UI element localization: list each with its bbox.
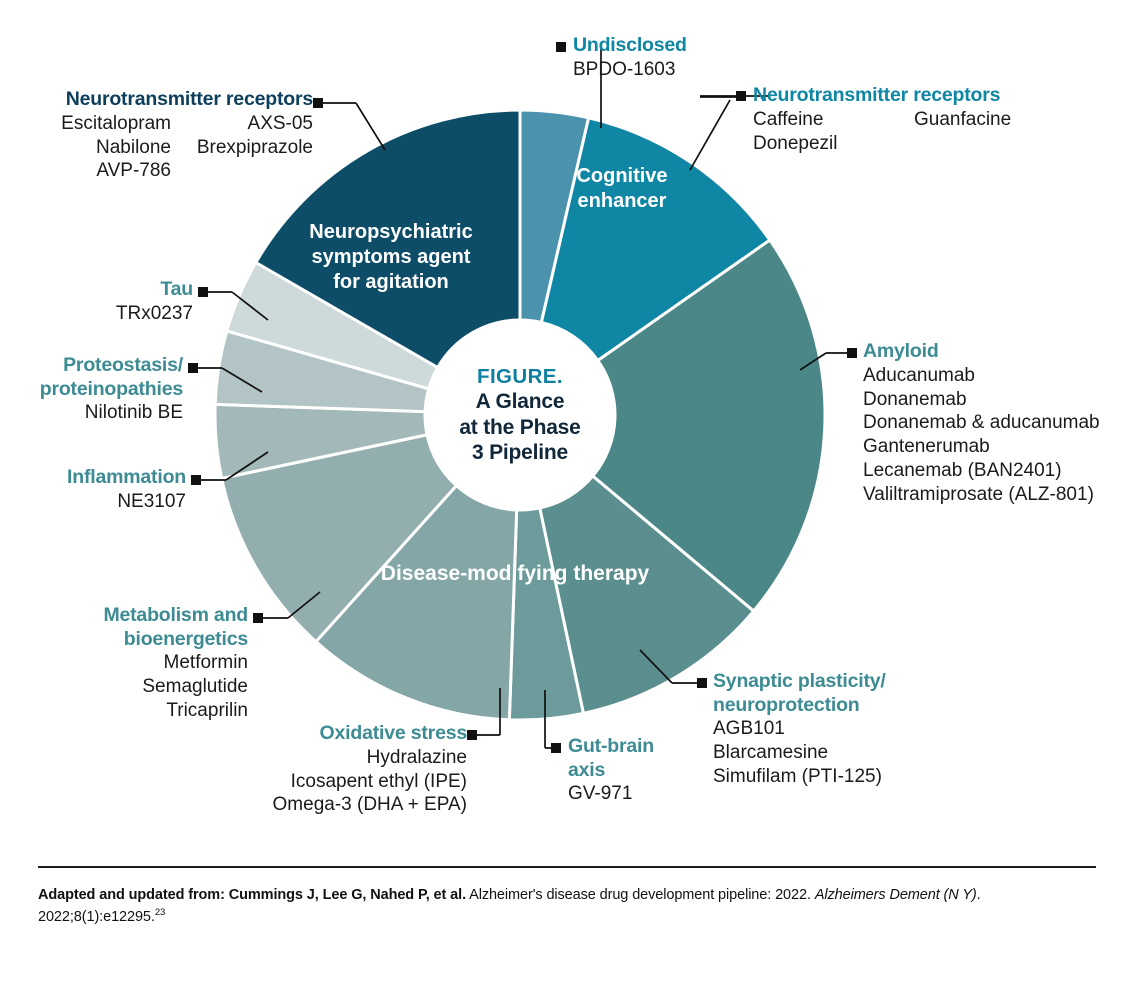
footer: Adapted and updated from: Cummings J, Le… <box>38 866 1096 928</box>
drug-item: AVP-786 <box>61 159 171 183</box>
drug-item: NE3107 <box>21 490 186 514</box>
callout-metabolism-title-2: bioenergetics <box>33 628 248 651</box>
drug-item: TRx0237 <box>28 302 193 326</box>
callout-gut-brain: Gut-brain axis GV-971 <box>568 735 654 806</box>
drug-item: Hydralazine <box>167 746 467 770</box>
center-hub-line-1: A Glance <box>476 389 565 415</box>
slice-overlay-label: Neuropsychiatricsymptoms agentfor agitat… <box>309 221 472 293</box>
drug-item: Aducanumab <box>863 364 1100 388</box>
callout-inflammation: Inflammation NE3107 <box>21 466 186 514</box>
center-hub-line-3: 3 Pipeline <box>472 440 568 466</box>
callout-synaptic-title-2: neuroprotection <box>713 694 886 717</box>
callout-metabolism: Metabolism and bioenergetics Metformin S… <box>33 604 248 723</box>
figure-infographic: UndisclosedCognitive enhancerAmyloidSyna… <box>0 0 1132 986</box>
drug-item: GV-971 <box>568 782 654 806</box>
callout-oxidative-title: Oxidative stress <box>167 722 467 745</box>
callout-neurotransmitter-right-title: Neurotransmitter receptors <box>753 84 1011 107</box>
drug-item: Simufilam (PTI-125) <box>713 765 886 789</box>
drug-item: Donanemab & aducanumab <box>863 411 1100 435</box>
drug-item: Omega-3 (DHA + EPA) <box>167 793 467 817</box>
drug-item: AXS-05 <box>193 112 313 136</box>
slice-overlay-label: Disease-modifying therapy <box>381 562 650 585</box>
drug-item: Guanfacine <box>914 108 1011 132</box>
callout-neurotransmitter-right: Neurotransmitter receptors Caffeine Done… <box>753 84 1011 155</box>
drug-item: Valiltramiprosate (ALZ-801) <box>863 483 1100 507</box>
drug-item: Metformin <box>33 651 248 675</box>
callout-synaptic: Synaptic plasticity/ neuroprotection AGB… <box>713 670 886 789</box>
drug-item: Nabilone <box>61 136 171 160</box>
footer-citation: Adapted and updated from: Cummings J, Le… <box>38 885 1096 928</box>
drug-item: AGB101 <box>713 717 886 741</box>
center-hub: FIGURE.A Glanceat the Phase3 Pipeline <box>425 320 615 510</box>
drug-item: Caffeine <box>753 108 888 132</box>
callout-proteostasis-title-2: proteinopathies <box>18 378 183 401</box>
drug-item: Donepezil <box>753 132 888 156</box>
drug-item: Semaglutide <box>33 675 248 699</box>
footer-divider <box>38 866 1096 868</box>
drug-item: Gantenerumab <box>863 435 1100 459</box>
callout-proteostasis-title: Proteostasis/ <box>18 354 183 377</box>
drug-item: Donanemab <box>863 388 1100 412</box>
callout-tau-title: Tau <box>28 278 193 301</box>
callout-synaptic-title: Synaptic plasticity/ <box>713 670 886 693</box>
drug-item: Tricaprilin <box>33 699 248 723</box>
callout-inflammation-title: Inflammation <box>21 466 186 489</box>
callout-neurotransmitter-left-title: Neurotransmitter receptors <box>18 88 313 111</box>
callout-undisclosed-title: Undisclosed <box>573 34 687 57</box>
callout-tau: Tau TRx0237 <box>28 278 193 326</box>
callout-oxidative: Oxidative stress Hydralazine Icosapent e… <box>167 722 467 817</box>
callout-gut-brain-title-2: axis <box>568 759 654 782</box>
center-hub-line-2: at the Phase <box>459 415 580 441</box>
drug-item: Escitalopram <box>61 112 171 136</box>
drug-item: Brexpiprazole <box>193 136 313 160</box>
callout-neurotransmitter-left: Neurotransmitter receptors Escitalopram … <box>18 88 313 183</box>
callout-amyloid-title: Amyloid <box>863 340 1100 363</box>
drug-item: Lecanemab (BAN2401) <box>863 459 1100 483</box>
drug-item: Nilotinib BE <box>18 401 183 425</box>
callout-undisclosed-drug: BPDO-1603 <box>573 58 687 82</box>
drug-item: Blarcamesine <box>713 741 886 765</box>
center-hub-line-0: FIGURE. <box>477 364 563 389</box>
callout-proteostasis: Proteostasis/ proteinopathies Nilotinib … <box>18 354 183 425</box>
drug-item: Icosapent ethyl (IPE) <box>167 770 467 794</box>
callout-gut-brain-title: Gut-brain <box>568 735 654 758</box>
callout-metabolism-title: Metabolism and <box>33 604 248 627</box>
callout-undisclosed: Undisclosed BPDO-1603 <box>573 34 687 82</box>
callout-amyloid: Amyloid Aducanumab Donanemab Donanemab &… <box>863 340 1100 507</box>
